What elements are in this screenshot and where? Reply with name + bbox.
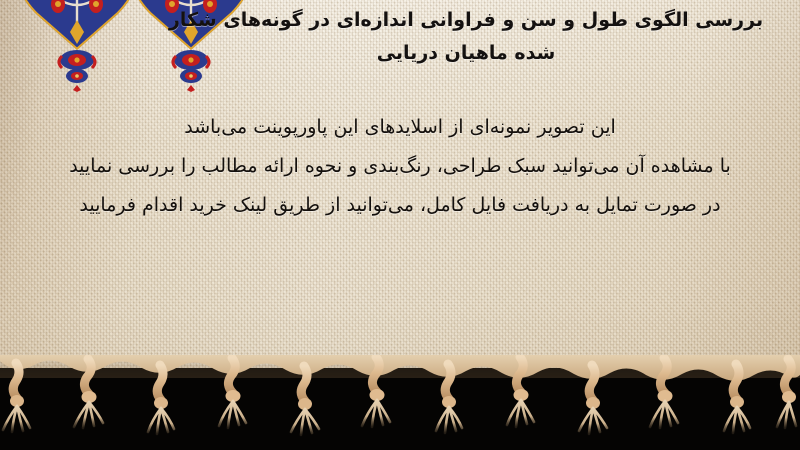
slide-title: بررسی الگوی طول و سن و فراوانی اندازه‌ای… <box>156 4 776 70</box>
slide-body-line-1: این تصویر نمونه‌ای از اسلایدهای این پاور… <box>28 108 772 147</box>
bottom-black-band <box>0 368 800 450</box>
slide-body-text: این تصویر نمونه‌ای از اسلایدهای این پاور… <box>28 108 772 225</box>
slide-title-line-1: بررسی الگوی طول و سن و فراوانی اندازه‌ای… <box>156 4 776 37</box>
slide-body-line-2: با مشاهده آن می‌توانید سبک طراحی، رنگ‌بن… <box>28 147 772 186</box>
slide-body-line-3: در صورت تمایل به دریافت فایل کامل، می‌تو… <box>28 186 772 225</box>
presentation-slide: بررسی الگوی طول و سن و فراوانی اندازه‌ای… <box>0 0 800 450</box>
slide-title-line-2: شده ماهیان دریایی <box>156 37 776 70</box>
